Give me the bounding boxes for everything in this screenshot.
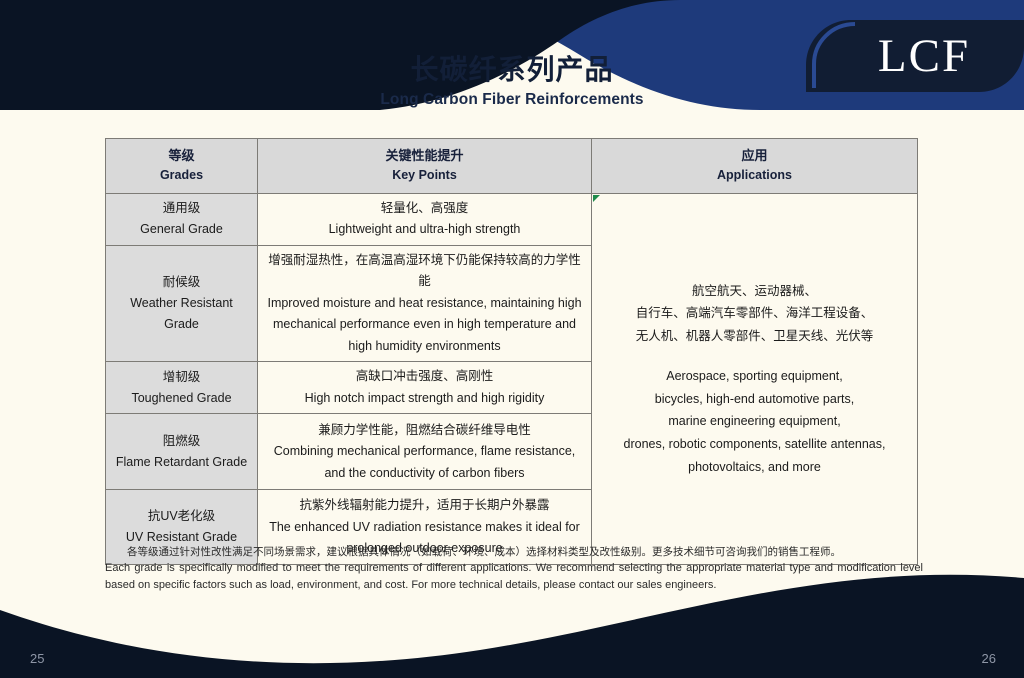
logo-text: LCF — [806, 20, 1024, 92]
table-body: 通用级 General Grade 轻量化、高强度 Lightweight an… — [106, 193, 918, 565]
grade-cn: 阻燃级 — [112, 431, 251, 452]
grade-en: Toughened Grade — [112, 388, 251, 409]
key-points-cn: 轻量化、高强度 — [264, 198, 585, 220]
header-key-points-cn: 关键性能提升 — [264, 147, 585, 166]
grade-cell-toughened: 增韧级 Toughened Grade — [106, 362, 258, 414]
grade-cell-weather: 耐候级 Weather Resistant Grade — [106, 245, 258, 362]
header-cell-key-points: 关键性能提升 Key Points — [258, 139, 592, 194]
key-points-en: Lightweight and ultra-high strength — [264, 219, 585, 241]
grade-cell-flame: 阻燃级 Flame Retardant Grade — [106, 414, 258, 490]
footnote-cn: 各等级通过针对性改性满足不同场景需求，建议根据具体情况（如载荷、环境、成本）选择… — [105, 544, 923, 560]
header-cell-grades: 等级 Grades — [106, 139, 258, 194]
brand-logo: LCF — [806, 20, 1024, 92]
key-points-cell-toughened: 高缺口冲击强度、高刚性 High notch impact strength a… — [258, 362, 592, 414]
grade-cn: 耐候级 — [112, 272, 251, 293]
footnote-en: Each grade is specifically modified to m… — [105, 560, 923, 593]
key-points-cell-general: 轻量化、高强度 Lightweight and ultra-high stren… — [258, 193, 592, 245]
footnote-block: 各等级通过针对性改性满足不同场景需求，建议根据具体情况（如载荷、环境、成本）选择… — [105, 544, 923, 594]
grade-en: Weather Resistant Grade — [112, 293, 251, 336]
key-points-cell-weather: 增强耐湿热性，在高温高湿环境下仍能保持较高的力学性能 Improved mois… — [258, 245, 592, 362]
table-row: 通用级 General Grade 轻量化、高强度 Lightweight an… — [106, 193, 918, 245]
grade-cn: 增韧级 — [112, 367, 251, 388]
grade-cn: 抗UV老化级 — [112, 506, 251, 527]
table-header-row: 等级 Grades 关键性能提升 Key Points 应用 Applicati… — [106, 139, 918, 194]
table-head: 等级 Grades 关键性能提升 Key Points 应用 Applicati… — [106, 139, 918, 194]
slide-canvas: LCF 长碳纤系列产品 Long Carbon Fiber Reinforcem… — [0, 0, 1024, 678]
key-points-cn: 兼顾力学性能，阻燃结合碳纤维导电性 — [264, 420, 585, 442]
header-applications-cn: 应用 — [598, 147, 911, 166]
grades-table: 等级 Grades 关键性能提升 Key Points 应用 Applicati… — [105, 138, 918, 565]
key-points-en: High notch impact strength and high rigi… — [264, 388, 585, 410]
header-cell-applications: 应用 Applications — [592, 139, 918, 194]
grade-cell-general: 通用级 General Grade — [106, 193, 258, 245]
header-applications-en: Applications — [598, 166, 911, 184]
page-number-right: 26 — [982, 651, 996, 666]
header-grades-en: Grades — [112, 166, 251, 184]
grade-en: General Grade — [112, 219, 251, 240]
key-points-cn: 抗紫外线辐射能力提升，适用于长期户外暴露 — [264, 495, 585, 517]
applications-en: Aerospace, sporting equipment, bicycles,… — [598, 365, 911, 479]
key-points-cn: 高缺口冲击强度、高刚性 — [264, 366, 585, 388]
page-number-left: 25 — [30, 651, 44, 666]
key-points-cell-flame: 兼顾力学性能，阻燃结合碳纤维导电性 Combining mechanical p… — [258, 414, 592, 490]
applications-cn: 航空航天、运动器械、 自行车、高端汽车零部件、海洋工程设备、 无人机、机器人零部… — [598, 280, 911, 348]
grade-cn: 通用级 — [112, 198, 251, 219]
merge-marker-icon — [593, 195, 600, 202]
page-title-en: Long Carbon Fiber Reinforcements — [0, 91, 1024, 109]
header-key-points-en: Key Points — [264, 166, 585, 184]
key-points-en: Combining mechanical performance, flame … — [264, 441, 585, 484]
header-grades-cn: 等级 — [112, 147, 251, 166]
grade-en: Flame Retardant Grade — [112, 452, 251, 473]
grades-table-wrapper: 等级 Grades 关键性能提升 Key Points 应用 Applicati… — [105, 138, 917, 565]
applications-cell: 航空航天、运动器械、 自行车、高端汽车零部件、海洋工程设备、 无人机、机器人零部… — [592, 193, 918, 565]
key-points-en: Improved moisture and heat resistance, m… — [264, 293, 585, 358]
key-points-cn: 增强耐湿热性，在高温高湿环境下仍能保持较高的力学性能 — [264, 250, 585, 293]
